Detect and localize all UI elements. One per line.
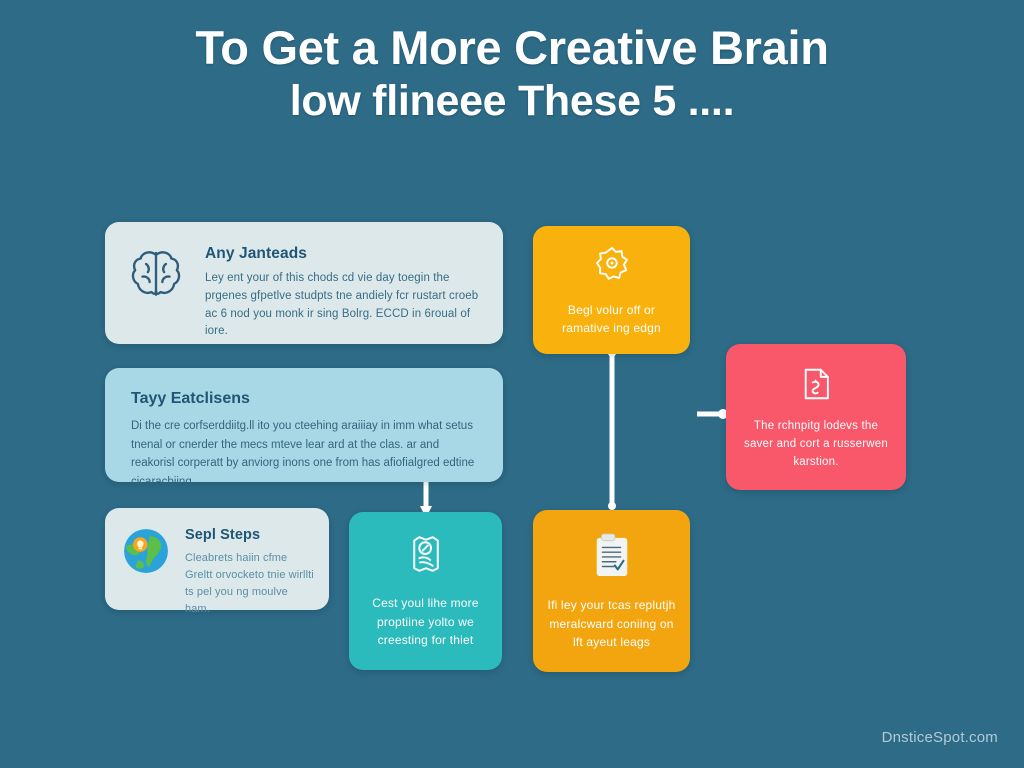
card-pink[interactable]: The rchnpitg lodevs the saver and cort a… <box>726 344 906 490</box>
card-steps[interactable]: Sepl Steps Cleabrets haiin cfme Greltt o… <box>105 508 329 610</box>
card-yellow-bottom[interactable]: Ifi ley your tcas replutjh meralcward co… <box>533 510 690 672</box>
card-steps-title: Sepl Steps <box>185 527 315 543</box>
card-yellow-top-text: Begl volur off or ramative ing edgn <box>547 301 676 338</box>
clipboard-checklist-icon <box>588 530 636 582</box>
document-note-icon <box>794 362 838 406</box>
card-pink-text: The rchnpitg lodevs the saver and cort a… <box>744 418 888 471</box>
connector-pink-horizontal <box>697 409 728 419</box>
card-teal-text: Cest youl lihe more proptiine yolto we c… <box>363 594 488 650</box>
connector-yellow-vertical <box>608 349 616 510</box>
card-yellow-top[interactable]: Begl volur off or ramative ing edgn <box>533 226 690 354</box>
flower-gear-icon <box>590 242 634 285</box>
document-pen-icon <box>404 532 448 576</box>
card-tayy-text: Di the cre corfserddiitg.ll ito you ctee… <box>131 417 477 492</box>
title-line-primary: To Get a More Creative Brain <box>70 22 954 75</box>
card-tayy[interactable]: Tayy Eatclisens Di the cre corfserddiitg… <box>105 368 503 482</box>
watermark: DnsticeSpot.com <box>882 729 998 746</box>
card-brain[interactable]: Any Janteads Ley ent your of this chods … <box>105 222 503 344</box>
title-line-secondary: low flineee These 5 .... <box>70 75 954 127</box>
card-steps-text: Cleabrets haiin cfme Greltt orvocketo tn… <box>185 550 315 618</box>
card-yellow-bottom-text: Ifi ley your tcas replutjh meralcward co… <box>547 596 676 652</box>
card-tayy-title: Tayy Eatclisens <box>131 390 477 408</box>
card-teal[interactable]: Cest youl lihe more proptiine yolto we c… <box>349 512 502 670</box>
globe-icon <box>119 524 173 578</box>
card-brain-title: Any Janteads <box>205 245 481 263</box>
card-brain-text: Ley ent your of this chods cd vie day to… <box>205 270 481 341</box>
brain-icon <box>125 242 187 304</box>
page-title: To Get a More Creative Brain low flineee… <box>0 22 1024 127</box>
